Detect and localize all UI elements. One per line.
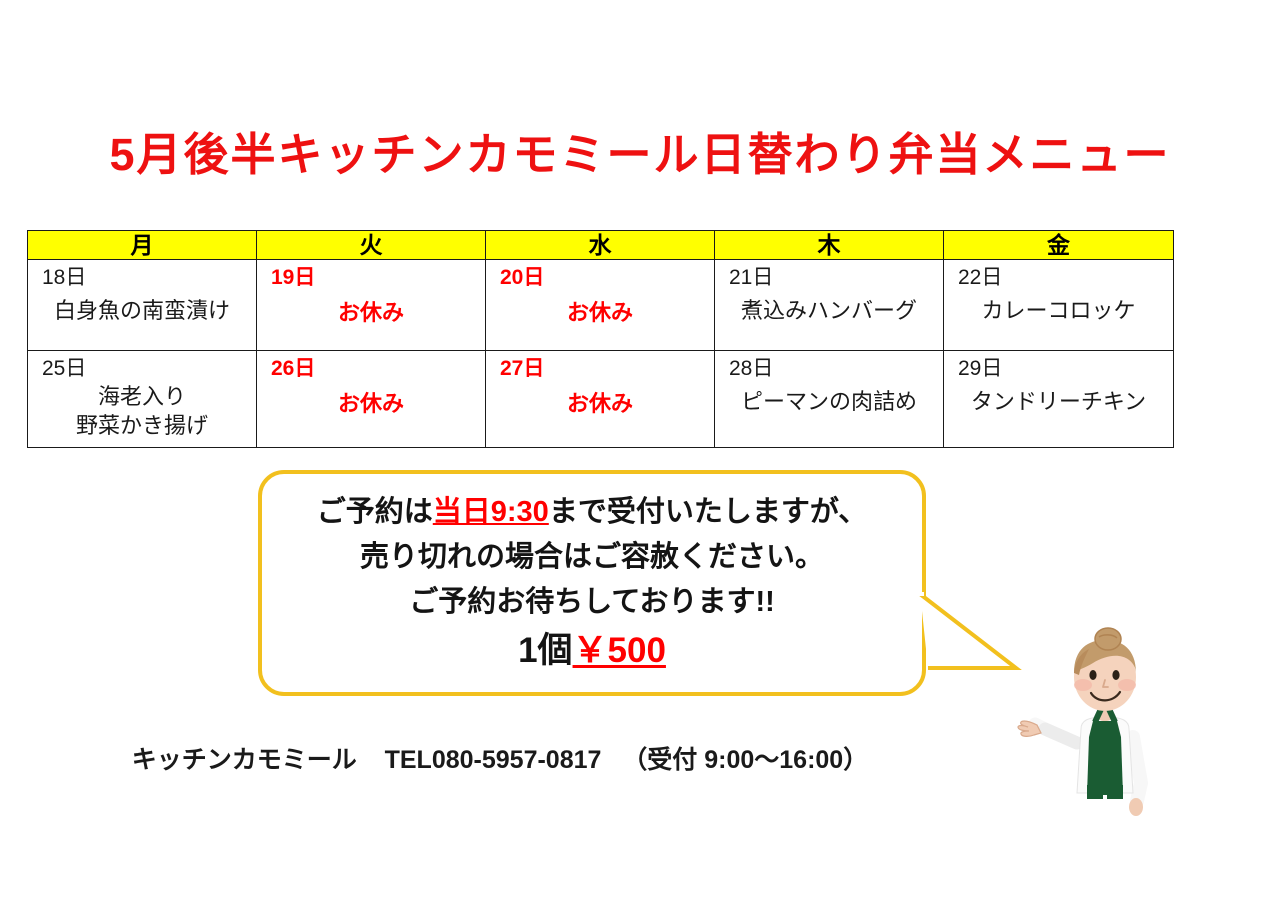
column-header-monday: 月 bbox=[28, 231, 257, 260]
menu-cell-21: 21日 煮込みハンバーグ bbox=[715, 260, 944, 351]
footer-contact: キッチンカモミール TEL080-5957-0817 （受付 9:00～16:0… bbox=[0, 740, 1000, 776]
price-line: 1個￥500 bbox=[262, 625, 922, 677]
dish-name: カレーコロッケ bbox=[944, 291, 1173, 324]
day-number: 26日 bbox=[257, 351, 485, 382]
menu-cell-22: 22日 カレーコロッケ bbox=[944, 260, 1174, 351]
menu-cell-29: 29日 タンドリーチキン bbox=[944, 351, 1174, 448]
day-number: 28日 bbox=[715, 351, 943, 382]
price-quantity: 1個 bbox=[518, 631, 572, 670]
menu-cell-25: 25日 海老入り 野菜かき揚げ bbox=[28, 351, 257, 448]
bubble-text-block: ご予約は当日9:30まで受付いたしますが、 売り切れの場合はご容赦ください。 ご… bbox=[262, 474, 922, 677]
dish-name: お休み bbox=[257, 291, 485, 326]
column-header-tuesday: 火 bbox=[257, 231, 486, 260]
dish-name: 煮込みハンバーグ bbox=[715, 291, 943, 324]
page-title: 5月後半キッチンカモミール日替わり弁当メニュー bbox=[0, 118, 1280, 183]
column-header-friday: 金 bbox=[944, 231, 1174, 260]
cutoff-time-highlight: 当日9:30 bbox=[433, 496, 549, 528]
table-row: 18日 白身魚の南蛮漬け 19日 お休み 20日 お休み 21日 煮込みハンバー… bbox=[28, 260, 1174, 351]
dish-name: タンドリーチキン bbox=[944, 382, 1173, 415]
dish-name: ピーマンの肉詰め bbox=[715, 382, 943, 415]
business-hours: （受付 9:00～16:00） bbox=[622, 746, 868, 774]
reservation-speech-bubble: ご予約は当日9:30まで受付いたしますが、 売り切れの場合はご容赦ください。 ご… bbox=[258, 470, 926, 696]
dish-name-second-line: 野菜かき揚げ bbox=[28, 411, 256, 440]
menu-cell-20: 20日 お休み bbox=[486, 260, 715, 351]
menu-cell-18: 18日 白身魚の南蛮漬け bbox=[28, 260, 257, 351]
weekly-menu-table: 月 火 水 木 金 18日 白身魚の南蛮漬け 19日 お休み 20日 お休み 2… bbox=[27, 230, 1174, 448]
staff-character-illustration bbox=[1015, 625, 1195, 850]
day-number: 29日 bbox=[944, 351, 1173, 382]
menu-cell-19: 19日 お休み bbox=[257, 260, 486, 351]
spacer bbox=[608, 746, 615, 774]
day-number: 19日 bbox=[257, 260, 485, 291]
table-header-row: 月 火 水 木 金 bbox=[28, 231, 1174, 260]
telephone-number: TEL080-5957-0817 bbox=[385, 746, 602, 774]
dish-name: お休み bbox=[257, 382, 485, 417]
day-number: 20日 bbox=[486, 260, 714, 291]
dish-name: 白身魚の南蛮漬け bbox=[28, 291, 256, 324]
dish-name: 海老入り bbox=[28, 382, 256, 411]
dish-name: お休み bbox=[486, 382, 714, 417]
day-number: 27日 bbox=[486, 351, 714, 382]
price-amount: ￥500 bbox=[573, 631, 666, 670]
menu-cell-26: 26日 お休み bbox=[257, 351, 486, 448]
column-header-thursday: 木 bbox=[715, 231, 944, 260]
menu-cell-27: 27日 お休み bbox=[486, 351, 715, 448]
day-number: 22日 bbox=[944, 260, 1173, 291]
shop-name: キッチンカモミール bbox=[132, 746, 357, 774]
day-number: 21日 bbox=[715, 260, 943, 291]
column-header-wednesday: 水 bbox=[486, 231, 715, 260]
speech-bubble-tail bbox=[918, 592, 1028, 688]
day-number: 25日 bbox=[28, 351, 256, 382]
bubble-line-1-prefix: ご予約は bbox=[317, 496, 433, 528]
day-number: 18日 bbox=[28, 260, 256, 291]
bubble-line-1-suffix: まで受付いたしますが、 bbox=[549, 496, 867, 528]
table-row: 25日 海老入り 野菜かき揚げ 26日 お休み 27日 お休み 28日 ピーマン… bbox=[28, 351, 1174, 448]
bubble-line-2: 売り切れの場合はご容赦ください。 bbox=[262, 535, 922, 580]
spacer bbox=[364, 746, 378, 774]
dish-name: お休み bbox=[486, 291, 714, 326]
bubble-line-3: ご予約お待ちしております!! bbox=[262, 580, 922, 625]
menu-cell-28: 28日 ピーマンの肉詰め bbox=[715, 351, 944, 448]
bubble-line-1: ご予約は当日9:30まで受付いたしますが、 bbox=[262, 490, 922, 535]
